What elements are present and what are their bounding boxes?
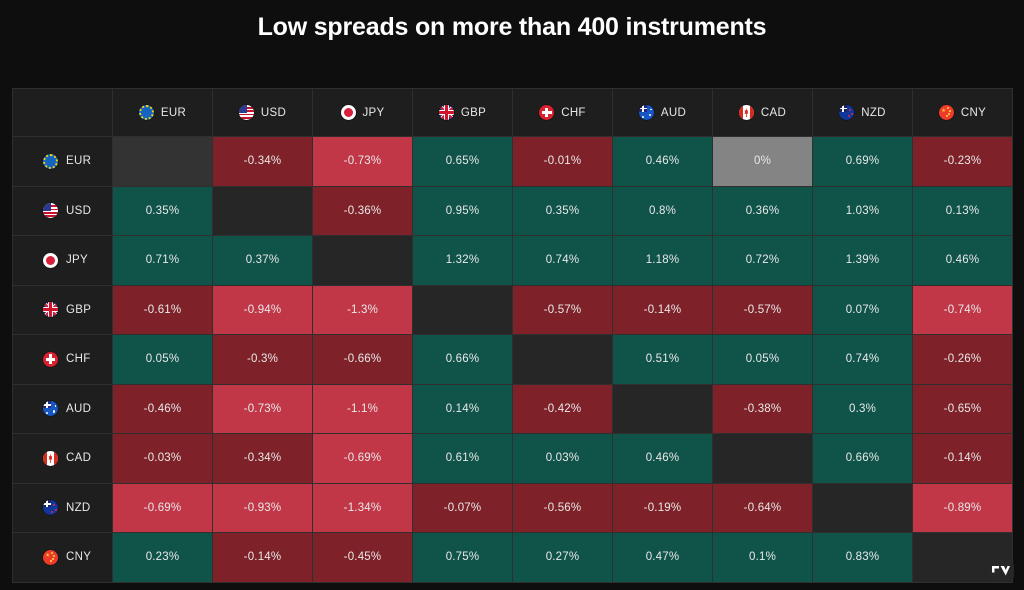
row-header-label: EUR [66, 155, 91, 167]
cell-eur-chf[interactable]: -0.01% [513, 137, 613, 187]
column-header-label: AUD [661, 107, 686, 119]
column-header-aud[interactable]: AUD [613, 89, 713, 137]
cell-eur-eur[interactable] [113, 137, 213, 187]
cell-usd-jpy[interactable]: -0.36% [313, 186, 413, 236]
matrix-corner-cell [13, 89, 113, 137]
flag-CHF-icon [43, 352, 58, 367]
row-header-nzd[interactable]: NZD [13, 483, 113, 533]
cell-nzd-usd[interactable]: -0.93% [213, 483, 313, 533]
cell-cad-cny[interactable]: -0.14% [913, 434, 1013, 484]
row-header-cad[interactable]: CAD [13, 434, 113, 484]
cell-eur-jpy[interactable]: -0.73% [313, 137, 413, 187]
cell-eur-cny[interactable]: -0.23% [913, 137, 1013, 187]
cell-eur-usd[interactable]: -0.34% [213, 137, 313, 187]
cell-gbp-usd[interactable]: -0.94% [213, 285, 313, 335]
cell-cad-eur[interactable]: -0.03% [113, 434, 213, 484]
cell-chf-usd[interactable]: -0.3% [213, 335, 313, 385]
flag-CAD-icon [739, 105, 754, 120]
cell-gbp-cad[interactable]: -0.57% [713, 285, 813, 335]
row-header-gbp[interactable]: GBP [13, 285, 113, 335]
cell-cad-chf[interactable]: 0.03% [513, 434, 613, 484]
row-header-label: AUD [66, 403, 91, 415]
cell-cny-usd[interactable]: -0.14% [213, 533, 313, 583]
row-header-label: CHF [66, 353, 91, 365]
row-header-label: JPY [66, 254, 88, 266]
page-title: Low spreads on more than 400 instruments [0, 11, 1024, 43]
row-header-label: USD [66, 205, 91, 217]
cell-gbp-gbp[interactable] [413, 285, 513, 335]
matrix-row: NZD-0.69%-0.93%-1.34%-0.07%-0.56%-0.19%-… [13, 483, 1013, 533]
flag-USD-icon [239, 105, 254, 120]
flag-EUR-icon [43, 154, 58, 169]
flag-CNY-icon [43, 550, 58, 565]
cell-jpy-nzd[interactable]: 1.39% [813, 236, 913, 286]
cell-usd-eur[interactable]: 0.35% [113, 186, 213, 236]
cell-nzd-aud[interactable]: -0.19% [613, 483, 713, 533]
matrix-row: JPY0.71%0.37%1.32%0.74%1.18%0.72%1.39%0.… [13, 236, 1013, 286]
matrix-row: CAD-0.03%-0.34%-0.69%0.61%0.03%0.46%0.66… [13, 434, 1013, 484]
cell-nzd-cad[interactable]: -0.64% [713, 483, 813, 533]
flag-GBP-icon [439, 105, 454, 120]
cell-cny-chf[interactable]: 0.27% [513, 533, 613, 583]
cell-usd-usd[interactable] [213, 186, 313, 236]
currency-heatmap-page: Low spreads on more than 400 instruments… [0, 0, 1024, 590]
flag-NZD-icon [43, 500, 58, 515]
row-header-jpy[interactable]: JPY [13, 236, 113, 286]
matrix-row: AUD-0.46%-0.73%-1.1%0.14%-0.42%-0.38%0.3… [13, 384, 1013, 434]
flag-AUD-icon [43, 401, 58, 416]
cell-nzd-gbp[interactable]: -0.07% [413, 483, 513, 533]
cell-aud-aud[interactable] [613, 384, 713, 434]
cell-eur-nzd[interactable]: 0.69% [813, 137, 913, 187]
cell-chf-chf[interactable] [513, 335, 613, 385]
flag-USD-icon [43, 203, 58, 218]
column-header-label: CNY [961, 107, 986, 119]
cell-aud-gbp[interactable]: 0.14% [413, 384, 513, 434]
matrix-header-row: EURUSDJPYGBPCHFAUDCADNZDCNY [13, 89, 1013, 137]
column-header-chf[interactable]: CHF [513, 89, 613, 137]
cell-chf-nzd[interactable]: 0.74% [813, 335, 913, 385]
row-header-usd[interactable]: USD [13, 186, 113, 236]
column-header-label: CHF [561, 107, 586, 119]
row-header-aud[interactable]: AUD [13, 384, 113, 434]
flag-CNY-icon [939, 105, 954, 120]
cell-aud-cny[interactable]: -0.65% [913, 384, 1013, 434]
cell-usd-chf[interactable]: 0.35% [513, 186, 613, 236]
column-header-jpy[interactable]: JPY [313, 89, 413, 137]
cell-gbp-jpy[interactable]: -1.3% [313, 285, 413, 335]
row-header-cny[interactable]: CNY [13, 533, 113, 583]
cell-cad-jpy[interactable]: -0.69% [313, 434, 413, 484]
cell-cad-usd[interactable]: -0.34% [213, 434, 313, 484]
matrix-row: GBP-0.61%-0.94%-1.3%-0.57%-0.14%-0.57%0.… [13, 285, 1013, 335]
flag-NZD-icon [839, 105, 854, 120]
flag-JPY-icon [341, 105, 356, 120]
cell-jpy-jpy[interactable] [313, 236, 413, 286]
column-header-label: JPY [363, 107, 385, 119]
cell-jpy-aud[interactable]: 1.18% [613, 236, 713, 286]
cell-usd-aud[interactable]: 0.8% [613, 186, 713, 236]
currency-matrix-table: EURUSDJPYGBPCHFAUDCADNZDCNY EUR-0.34%-0.… [12, 88, 1013, 583]
cell-usd-nzd[interactable]: 1.03% [813, 186, 913, 236]
cell-usd-cny[interactable]: 0.13% [913, 186, 1013, 236]
cell-chf-aud[interactable]: 0.51% [613, 335, 713, 385]
cell-usd-cad[interactable]: 0.36% [713, 186, 813, 236]
column-header-gbp[interactable]: GBP [413, 89, 513, 137]
cell-aud-chf[interactable]: -0.42% [513, 384, 613, 434]
cell-cad-nzd[interactable]: 0.66% [813, 434, 913, 484]
flag-AUD-icon [639, 105, 654, 120]
cell-cad-aud[interactable]: 0.46% [613, 434, 713, 484]
cell-jpy-gbp[interactable]: 1.32% [413, 236, 513, 286]
row-header-label: CNY [66, 551, 91, 563]
column-header-label: CAD [761, 107, 786, 119]
cell-gbp-aud[interactable]: -0.14% [613, 285, 713, 335]
flag-JPY-icon [43, 253, 58, 268]
cell-cad-gbp[interactable]: 0.61% [413, 434, 513, 484]
cell-usd-gbp[interactable]: 0.95% [413, 186, 513, 236]
row-header-label: GBP [66, 304, 91, 316]
cell-jpy-chf[interactable]: 0.74% [513, 236, 613, 286]
flag-EUR-icon [139, 105, 154, 120]
cell-jpy-cad[interactable]: 0.72% [713, 236, 813, 286]
flag-CAD-icon [43, 451, 58, 466]
cell-aud-eur[interactable]: -0.46% [113, 384, 213, 434]
column-header-label: EUR [161, 107, 186, 119]
cell-aud-jpy[interactable]: -1.1% [313, 384, 413, 434]
column-header-cad[interactable]: CAD [713, 89, 813, 137]
column-header-eur[interactable]: EUR [113, 89, 213, 137]
cell-gbp-nzd[interactable]: 0.07% [813, 285, 913, 335]
matrix-row: EUR-0.34%-0.73%0.65%-0.01%0.46%0%0.69%-0… [13, 137, 1013, 187]
cell-cad-cad[interactable] [713, 434, 813, 484]
cell-chf-gbp[interactable]: 0.66% [413, 335, 513, 385]
cell-cny-eur[interactable]: 0.23% [113, 533, 213, 583]
cell-nzd-chf[interactable]: -0.56% [513, 483, 613, 533]
cell-nzd-cny[interactable]: -0.89% [913, 483, 1013, 533]
cell-nzd-nzd[interactable] [813, 483, 913, 533]
cell-cny-nzd[interactable]: 0.83% [813, 533, 913, 583]
column-header-label: NZD [861, 107, 886, 119]
column-header-label: GBP [461, 107, 486, 119]
flag-GBP-icon [43, 302, 58, 317]
flag-CHF-icon [539, 105, 554, 120]
column-header-usd[interactable]: USD [213, 89, 313, 137]
cell-nzd-eur[interactable]: -0.69% [113, 483, 213, 533]
matrix-row: CNY0.23%-0.14%-0.45%0.75%0.27%0.47%0.1%0… [13, 533, 1013, 583]
column-header-label: USD [261, 107, 286, 119]
tradingview-logo[interactable] [988, 562, 1014, 580]
cell-cny-aud[interactable]: 0.47% [613, 533, 713, 583]
column-header-cny[interactable]: CNY [913, 89, 1013, 137]
cell-jpy-eur[interactable]: 0.71% [113, 236, 213, 286]
currency-matrix: EURUSDJPYGBPCHFAUDCADNZDCNY EUR-0.34%-0.… [12, 88, 1012, 582]
cell-chf-eur[interactable]: 0.05% [113, 335, 213, 385]
cell-cny-jpy[interactable]: -0.45% [313, 533, 413, 583]
cell-nzd-jpy[interactable]: -1.34% [313, 483, 413, 533]
row-header-eur[interactable]: EUR [13, 137, 113, 187]
cell-cny-gbp[interactable]: 0.75% [413, 533, 513, 583]
cell-eur-cad[interactable]: 0% [713, 137, 813, 187]
matrix-row: CHF0.05%-0.3%-0.66%0.66%0.51%0.05%0.74%-… [13, 335, 1013, 385]
cell-eur-gbp[interactable]: 0.65% [413, 137, 513, 187]
cell-gbp-chf[interactable]: -0.57% [513, 285, 613, 335]
row-header-chf[interactable]: CHF [13, 335, 113, 385]
cell-gbp-eur[interactable]: -0.61% [113, 285, 213, 335]
cell-chf-cad[interactable]: 0.05% [713, 335, 813, 385]
cell-aud-usd[interactable]: -0.73% [213, 384, 313, 434]
row-header-label: NZD [66, 502, 91, 514]
cell-jpy-cny[interactable]: 0.46% [913, 236, 1013, 286]
row-header-label: CAD [66, 452, 91, 464]
cell-chf-cny[interactable]: -0.26% [913, 335, 1013, 385]
cell-gbp-cny[interactable]: -0.74% [913, 285, 1013, 335]
cell-aud-nzd[interactable]: 0.3% [813, 384, 913, 434]
cell-chf-jpy[interactable]: -0.66% [313, 335, 413, 385]
cell-eur-aud[interactable]: 0.46% [613, 137, 713, 187]
cell-jpy-usd[interactable]: 0.37% [213, 236, 313, 286]
cell-cny-cad[interactable]: 0.1% [713, 533, 813, 583]
matrix-row: USD0.35%-0.36%0.95%0.35%0.8%0.36%1.03%0.… [13, 186, 1013, 236]
column-header-nzd[interactable]: NZD [813, 89, 913, 137]
cell-aud-cad[interactable]: -0.38% [713, 384, 813, 434]
